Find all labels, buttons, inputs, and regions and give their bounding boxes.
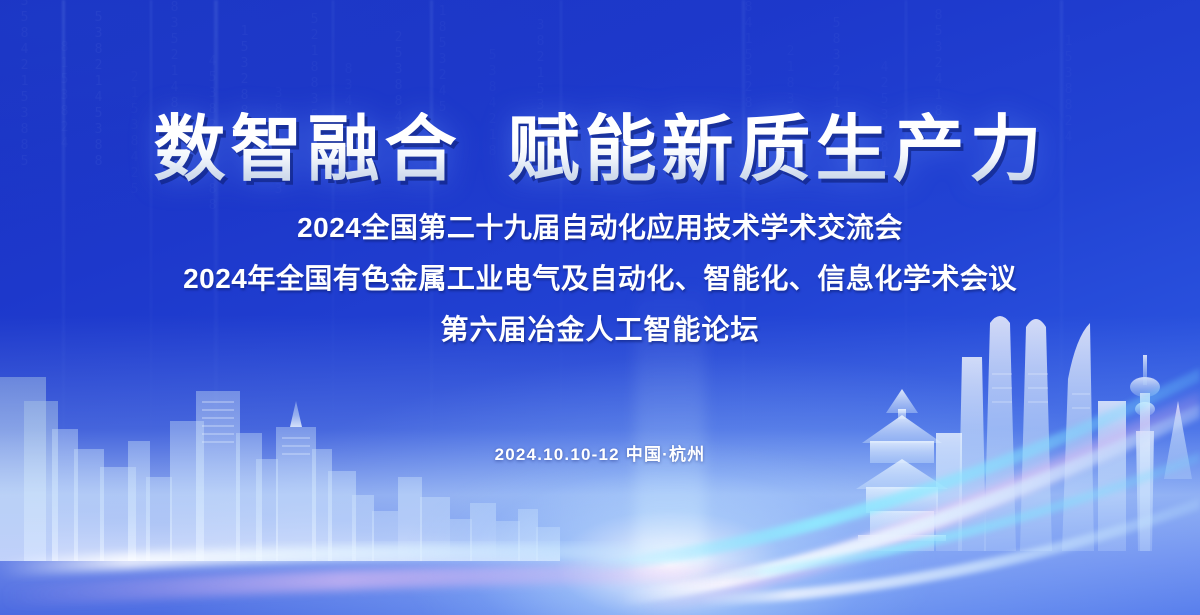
subtitle-line-2: 2024年全国有色金属工业电气及自动化、智能化、信息化学术会议 (0, 257, 1200, 297)
date-location: 2024.10.10-12 中国·杭州 (0, 440, 1200, 465)
subtitle-line-3: 第六届冶金人工智能论坛 (0, 308, 1200, 348)
subtitle-line-1: 2024全国第二十九届自动化应用技术学术交流会 (0, 206, 1200, 246)
main-title-part1: 数智融合 (153, 110, 461, 190)
main-title-part2: 赋能新质生产力 (508, 110, 1047, 190)
main-title: 数智融合赋能新质生产力 (0, 112, 1200, 190)
banner-text-block: 数智融合赋能新质生产力 2024全国第二十九届自动化应用技术学术交流会 2024… (0, 0, 1200, 465)
conference-banner: 3584215388581538245382145388215384258352… (0, 0, 1200, 615)
